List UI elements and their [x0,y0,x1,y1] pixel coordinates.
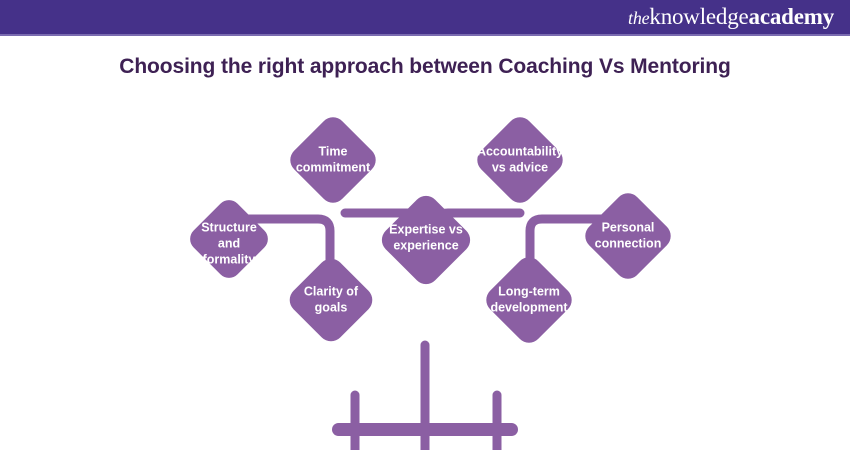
header-underline [0,34,850,36]
node-accountability-vs-advice[interactable]: Accountability vs advice [472,112,568,208]
page-title: Choosing the right approach between Coac… [0,55,850,79]
node-expertise-vs-experience[interactable]: Expertise vs experience [377,191,476,290]
node-label-clarity-of-goals-line1: Clarity of [304,284,359,298]
node-structure-and-formality[interactable]: Structure and formality [185,195,273,283]
node-label-expertise-vs-experience-line2: experience [393,238,458,252]
brand-logo-academy: academy [749,4,834,29]
node-personal-connection[interactable]: Personal connection [580,188,676,284]
brand-logo-knowledge: knowledge [649,4,748,29]
node-long-term-development[interactable]: Long-term development [481,252,577,348]
node-label-time-commitment-line2: commitment [296,160,371,174]
diagram-canvas: Time commitment Accountability vs advice… [0,95,850,450]
node-label-long-term-development-line1: Long-term [498,284,560,298]
node-label-expertise-vs-experience-line1: Expertise vs [389,222,463,236]
node-label-clarity-of-goals-line2: goals [315,300,348,314]
base-bar [332,423,518,436]
node-label-long-term-development-line2: development [490,300,568,314]
node-label-structure-and-formality-line1: Structure [201,220,257,234]
node-label-accountability-vs-advice-line2: vs advice [492,160,548,174]
node-label-personal-connection-line1: Personal [602,220,655,234]
node-label-personal-connection-line2: connection [595,236,662,250]
node-time-commitment[interactable]: Time commitment [285,112,381,208]
node-label-accountability-vs-advice-line1: Accountability [477,144,563,158]
node-label-structure-and-formality-line2: and [218,236,240,250]
node-label-time-commitment-line1: Time [319,144,348,158]
brand-logo-the: the [628,8,649,28]
brand-logo[interactable]: theknowledgeacademy [628,4,834,30]
node-label-structure-and-formality-line3: formality [203,252,256,266]
node-clarity-of-goals[interactable]: Clarity of goals [284,253,377,346]
